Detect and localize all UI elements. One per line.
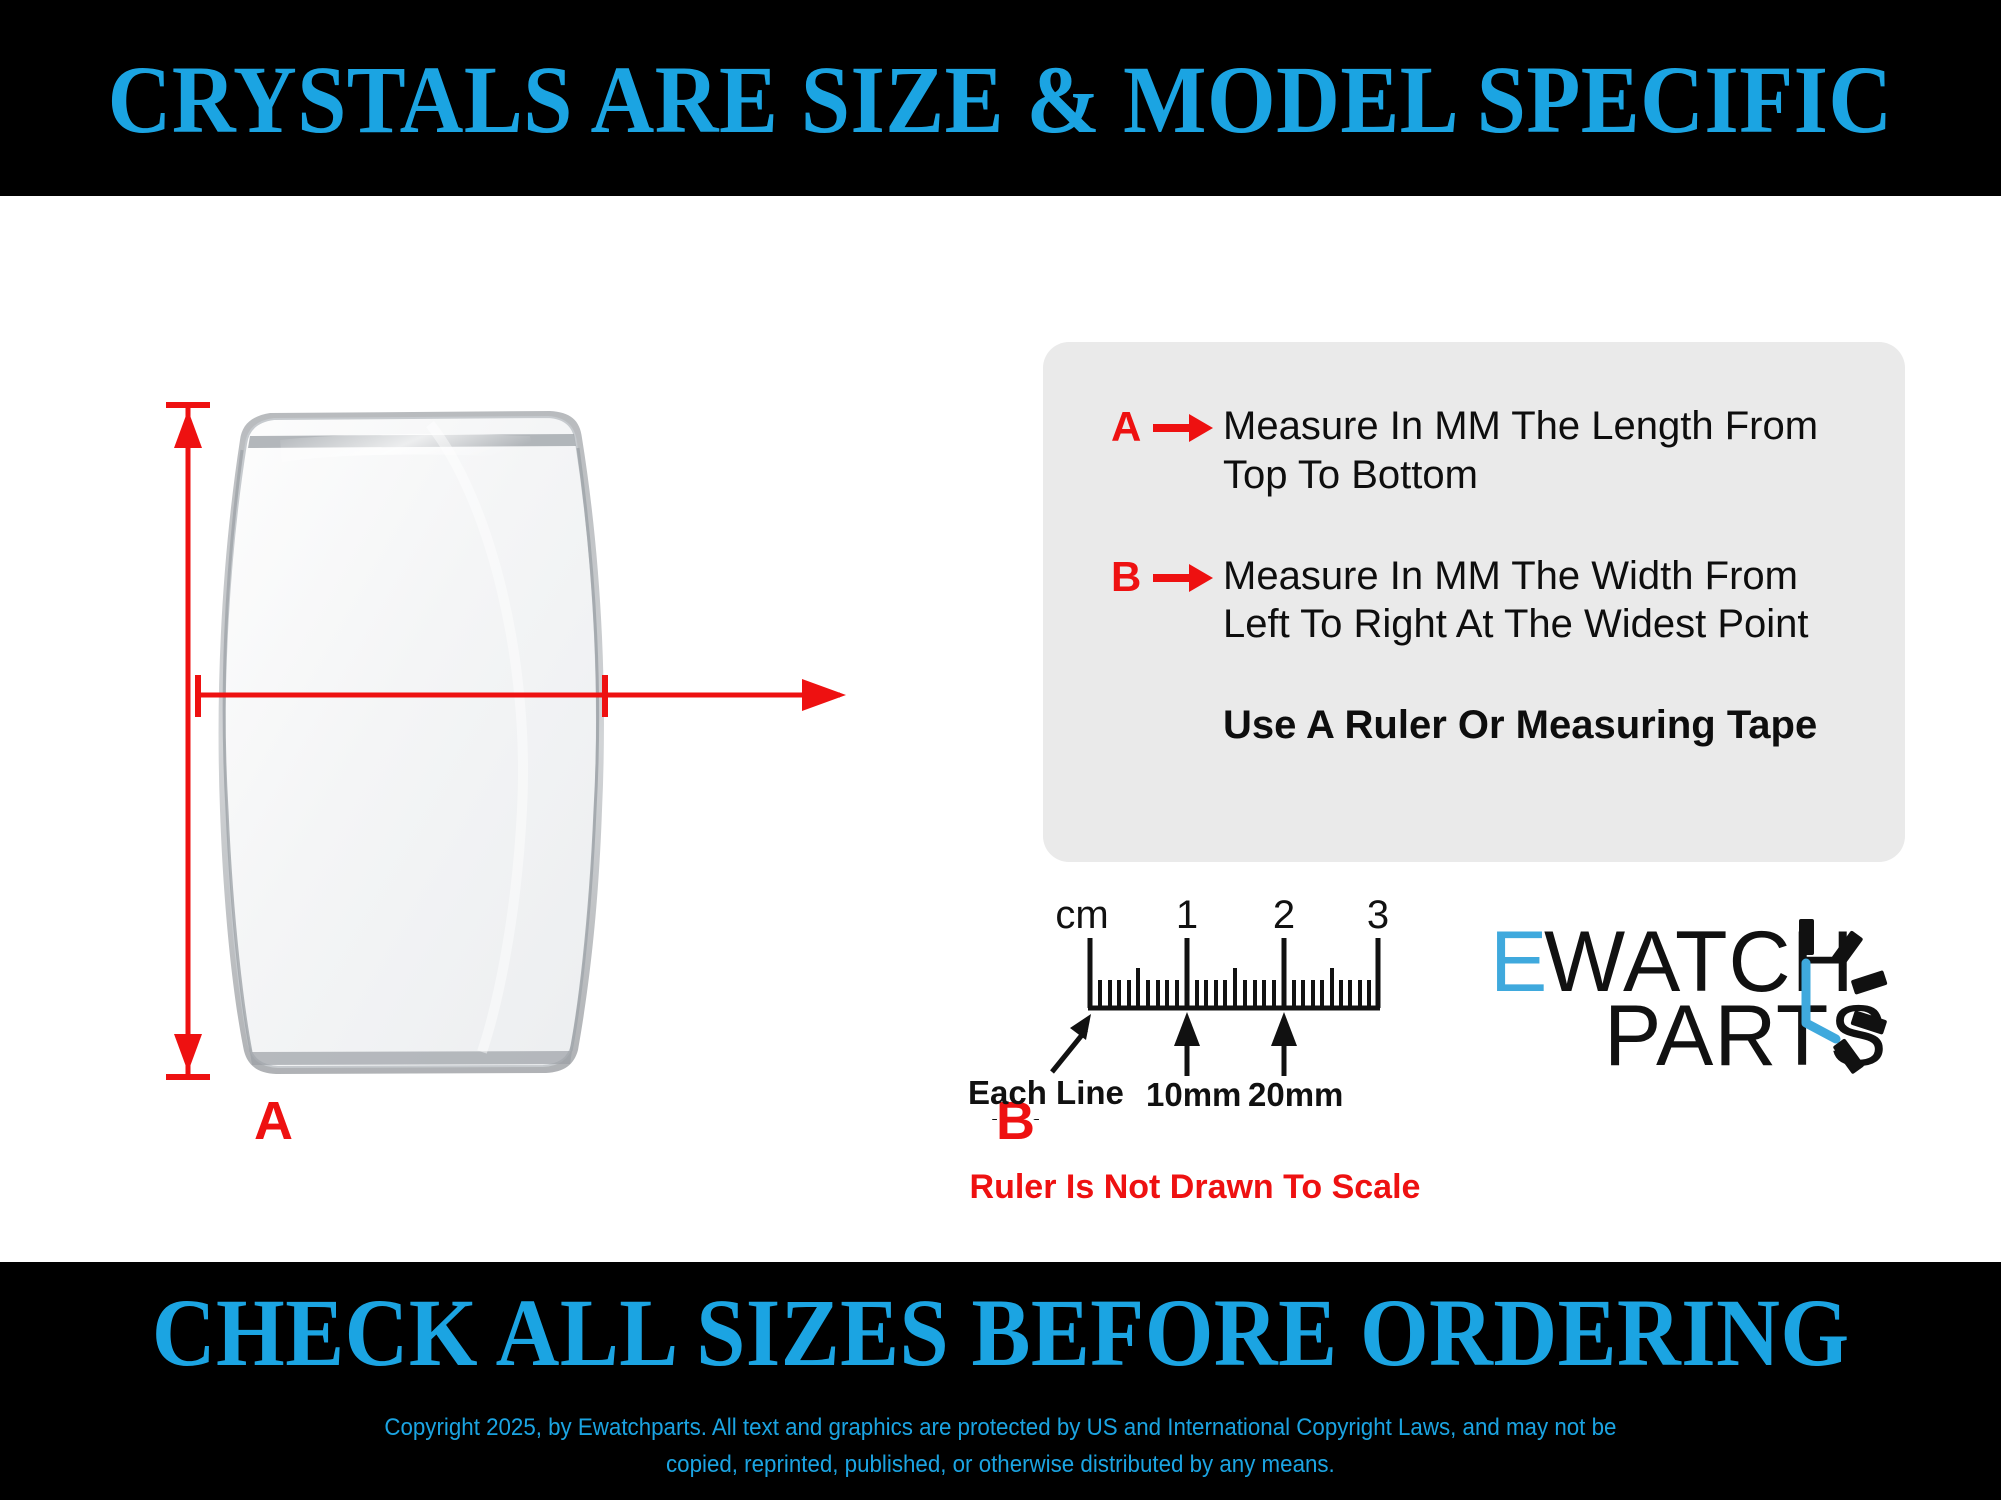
ruler-each-line-label-2: Is 1mm	[990, 1112, 1104, 1120]
header-banner-text: CRYSTALS ARE SIZE & MODEL SPECIFIC	[108, 52, 1893, 148]
instruction-text-a: Measure In MM The Length From Top To Bot…	[1223, 402, 1853, 500]
ruler-tick-label-1: 1	[1176, 893, 1198, 937]
ruler-callout-20mm: 20mm	[1248, 1076, 1343, 1113]
footer-banner-text: CHECK ALL SIZES BEFORE ORDERING	[152, 1285, 1850, 1381]
arrow-right-icon	[1151, 558, 1223, 606]
ruler-scale-caption: Ruler Is Not Drawn To Scale	[955, 1168, 1435, 1207]
instruction-row-b: B Measure In MM The Width From Left To R…	[1111, 552, 1853, 650]
copyright-line-1: Copyright 2025, by Ewatchparts. All text…	[384, 1409, 1616, 1446]
crystal-illustration-svg	[130, 380, 1090, 1120]
instructions-panel: A Measure In MM The Length From Top To B…	[1043, 342, 1905, 862]
ewatchparts-logo-svg: E WATCH PARTS	[1490, 905, 1910, 1105]
logo-letter-e: E	[1490, 914, 1548, 1010]
crystal-diagram: A B	[130, 380, 1090, 1120]
ruler-diagram: cm 1 2 3 Each Line Is 1mm 1	[960, 880, 1430, 1120]
dimension-label-a: A	[254, 1094, 293, 1148]
instruction-row-a: A Measure In MM The Length From Top To B…	[1111, 402, 1853, 500]
ruler-callout-arrows	[1052, 1012, 1297, 1076]
instruction-text-b: Measure In MM The Width From Left To Rig…	[1223, 552, 1853, 650]
infographic-page: CRYSTALS ARE SIZE & MODEL SPECIFIC	[0, 0, 2001, 1500]
copyright-line-2: copied, reprinted, published, or otherwi…	[384, 1446, 1616, 1483]
brand-logo: E WATCH PARTS	[1490, 905, 1910, 1105]
instruction-key-b: B	[1111, 552, 1151, 602]
instruction-key-a: A	[1111, 402, 1151, 452]
ruler-tick-label-3: 3	[1367, 893, 1389, 937]
copyright-block: Copyright 2025, by Ewatchparts. All text…	[338, 1409, 1663, 1483]
ruler-illustration-svg: cm 1 2 3 Each Line Is 1mm 1	[960, 880, 1430, 1120]
footer-banner: CHECK ALL SIZES BEFORE ORDERING Copyrigh…	[0, 1262, 2001, 1500]
instruction-note: Use A Ruler Or Measuring Tape	[1223, 701, 1853, 750]
ruler-unit-label: cm	[1055, 893, 1108, 937]
ruler-tick-label-2: 2	[1273, 893, 1295, 937]
ruler-each-line-label-1: Each Line	[968, 1074, 1124, 1111]
header-banner: CRYSTALS ARE SIZE & MODEL SPECIFIC	[0, 0, 2001, 196]
logo-word-parts: PARTS	[1604, 988, 1888, 1084]
ruler-callout-10mm: 10mm	[1146, 1076, 1241, 1113]
arrow-right-icon	[1151, 408, 1223, 456]
dimension-arrow-a	[166, 405, 210, 1077]
crystal-body	[219, 411, 604, 1074]
